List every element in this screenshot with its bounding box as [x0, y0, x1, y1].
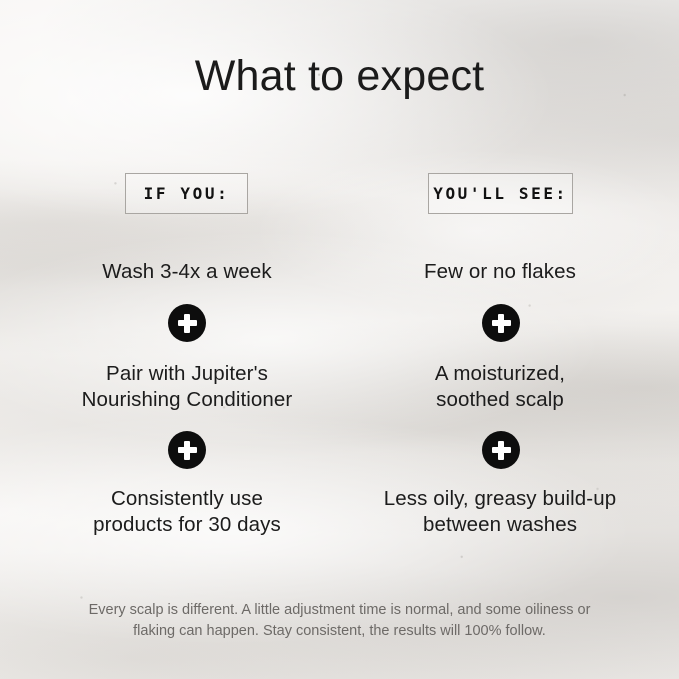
plus-icon [168, 431, 206, 469]
plus-icon [482, 431, 520, 469]
plus-icon-bar-vertical [498, 441, 504, 460]
plus-icon [168, 304, 206, 342]
list-item-line: Wash 3-4x a week [37, 259, 337, 285]
list-item: Few or no flakes [350, 259, 650, 285]
infographic-canvas: What to expect IF YOU: YOU'LL SEE: Wash … [0, 0, 679, 679]
list-item: Consistently use products for 30 days [37, 486, 337, 538]
list-item: Wash 3-4x a week [37, 259, 337, 285]
list-item-line: between washes [350, 512, 650, 538]
footer-line: Every scalp is different. A little adjus… [52, 600, 627, 621]
column-heading-youll-see: YOU'LL SEE: [428, 173, 573, 214]
list-item: A moisturized, soothed scalp [350, 361, 650, 413]
footer-disclaimer: Every scalp is different. A little adjus… [52, 600, 627, 642]
list-item-line: Pair with Jupiter's [37, 361, 337, 387]
plus-icon-bar-vertical [184, 314, 190, 333]
list-item-line: Less oily, greasy build-up [350, 486, 650, 512]
list-item-line: soothed scalp [350, 387, 650, 413]
plus-icon-bar-vertical [184, 441, 190, 460]
list-item-line: Nourishing Conditioner [37, 387, 337, 413]
page-title: What to expect [0, 52, 679, 101]
list-item: Less oily, greasy build-up between washe… [350, 486, 650, 538]
footer-line: flaking can happen. Stay consistent, the… [52, 621, 627, 642]
list-item-line: products for 30 days [37, 512, 337, 538]
list-item-line: Consistently use [37, 486, 337, 512]
list-item: Pair with Jupiter's Nourishing Condition… [37, 361, 337, 413]
plus-icon-bar-vertical [498, 314, 504, 333]
plus-icon [482, 304, 520, 342]
list-item-line: Few or no flakes [350, 259, 650, 285]
list-item-line: A moisturized, [350, 361, 650, 387]
column-heading-if-you: IF YOU: [125, 173, 248, 214]
